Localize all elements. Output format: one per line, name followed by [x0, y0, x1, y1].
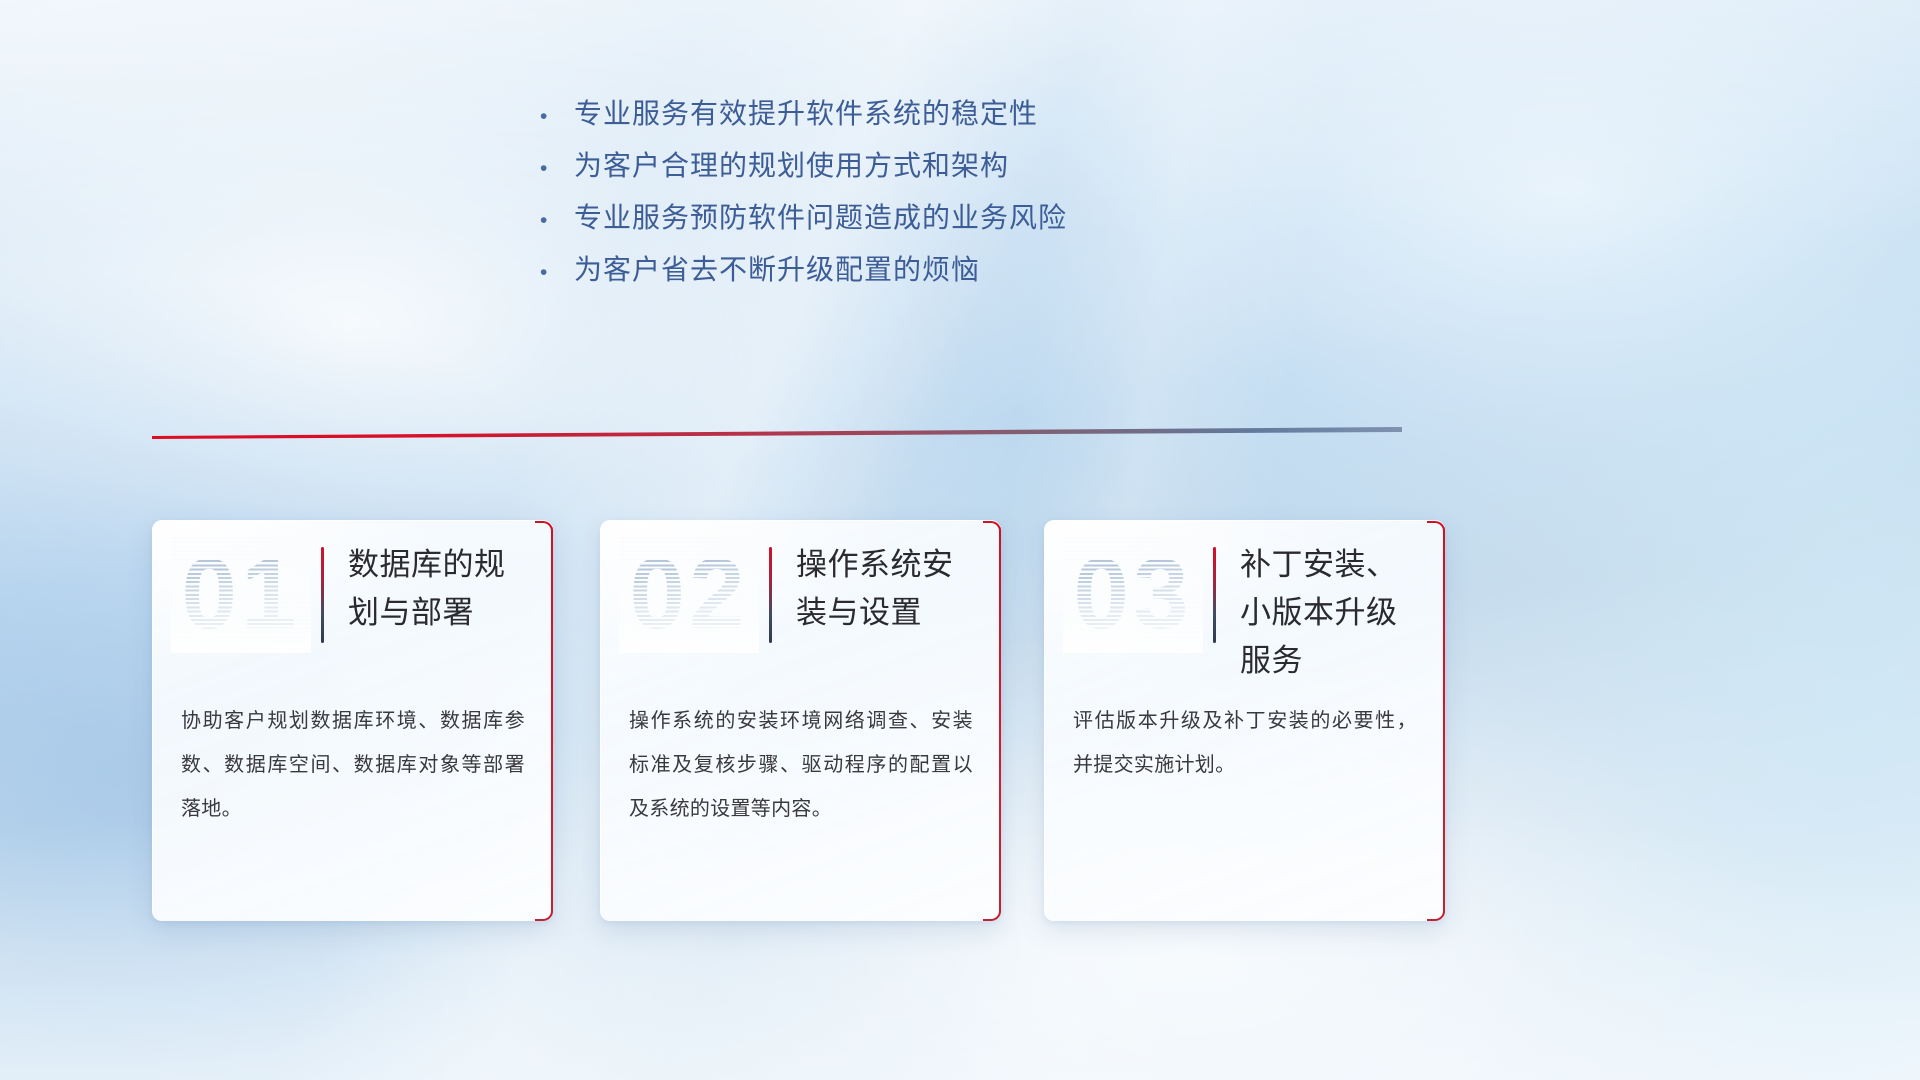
bullet-dot-icon: •	[540, 262, 574, 283]
card-number-badge: 03	[1063, 535, 1203, 653]
card-header: 03 补丁安装、小版本升级服务	[1045, 521, 1445, 671]
title-accent-bar	[1213, 547, 1216, 643]
card-body-text: 协助客户规划数据库环境、数据库参数、数据库空间、数据库对象等部署落地。	[181, 699, 525, 831]
bullet-text: 为客户省去不断升级配置的烦恼	[574, 248, 980, 288]
card-body-text: 操作系统的安装环境网络调查、安装标准及复核步骤、驱动程序的配置以及系统的设置等内…	[629, 699, 973, 831]
title-accent-bar	[769, 547, 772, 643]
card-header: 01 数据库的规划与部署	[153, 521, 553, 671]
card-title: 操作系统安装与设置	[796, 541, 983, 637]
bullet-dot-icon: •	[540, 210, 574, 231]
card-body-text: 评估版本升级及补丁安装的必要性，并提交实施计划。	[1073, 699, 1417, 787]
card-title: 数据库的规划与部署	[348, 541, 535, 637]
bullet-text: 专业服务预防软件问题造成的业务风险	[574, 196, 1067, 236]
card-corner-accent-bottom-right	[535, 903, 553, 921]
bullet-text: 为客户合理的规划使用方式和架构	[574, 144, 1009, 184]
card-number-badge: 02	[619, 535, 759, 653]
slide-canvas: • 专业服务有效提升软件系统的稳定性 • 为客户合理的规划使用方式和架构 • 专…	[0, 0, 1920, 1080]
card-title-block: 补丁安装、小版本升级服务	[1213, 541, 1427, 685]
title-accent-bar	[321, 547, 324, 643]
card-number-text: 02	[619, 535, 759, 653]
section-divider	[152, 427, 1402, 441]
bullet-dot-icon: •	[540, 158, 574, 179]
card-header: 02 操作系统安装与设置	[601, 521, 1001, 671]
bullet-dot-icon: •	[540, 106, 574, 127]
list-item: • 为客户省去不断升级配置的烦恼	[540, 248, 1180, 300]
service-card-03[interactable]: 03 补丁安装、小版本升级服务 评估版本升级及补丁安装的必要性，并提交实施计划。	[1044, 520, 1445, 921]
card-corner-accent-bottom-right	[1427, 903, 1445, 921]
card-corner-accent-bottom-right	[983, 903, 1001, 921]
service-card-01[interactable]: 01 数据库的规划与部署 协助客户规划数据库环境、数据库参数、数据库空间、数据库…	[152, 520, 553, 921]
divider-taper-shape	[152, 427, 1402, 441]
list-item: • 专业服务有效提升软件系统的稳定性	[540, 92, 1180, 144]
benefits-bullet-list: • 专业服务有效提升软件系统的稳定性 • 为客户合理的规划使用方式和架构 • 专…	[540, 92, 1180, 300]
card-number-text: 01	[171, 535, 311, 653]
bullet-text: 专业服务有效提升软件系统的稳定性	[574, 92, 1038, 132]
list-item: • 专业服务预防软件问题造成的业务风险	[540, 196, 1180, 248]
service-card-02[interactable]: 02 操作系统安装与设置 操作系统的安装环境网络调查、安装标准及复核步骤、驱动程…	[600, 520, 1001, 921]
card-title-block: 操作系统安装与设置	[769, 541, 983, 643]
list-item: • 为客户合理的规划使用方式和架构	[540, 144, 1180, 196]
card-title-block: 数据库的规划与部署	[321, 541, 535, 643]
card-number-text: 03	[1063, 535, 1203, 653]
card-title: 补丁安装、小版本升级服务	[1240, 541, 1427, 685]
card-number-badge: 01	[171, 535, 311, 653]
